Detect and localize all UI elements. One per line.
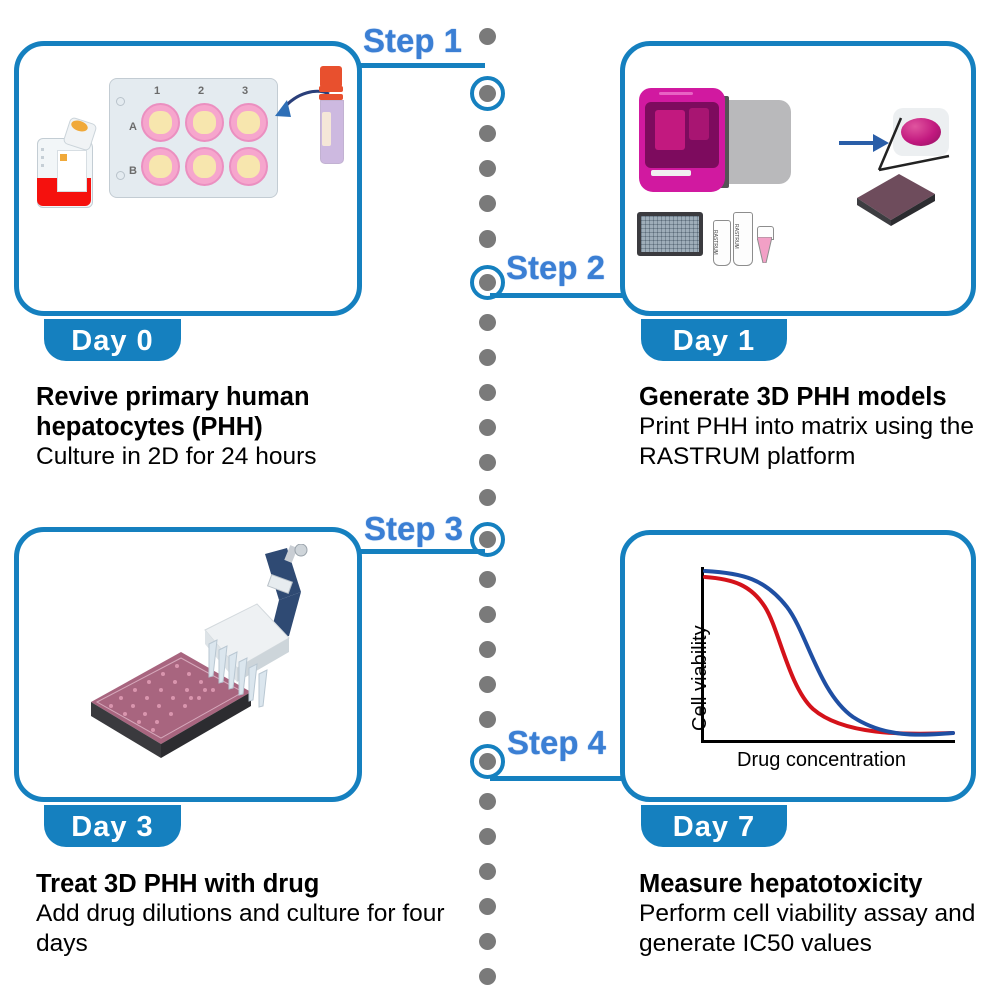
step-label-2: Step 2 bbox=[506, 249, 605, 287]
timeline-node-core bbox=[479, 531, 496, 548]
timeline-dot bbox=[479, 28, 496, 45]
step-label-4: Step 4 bbox=[507, 724, 606, 762]
day-badge-step-1: Day 0 bbox=[44, 319, 181, 361]
caption-body-step-2: Print PHH into matrix using the RASTRUM … bbox=[639, 412, 989, 472]
timeline-dot bbox=[479, 711, 496, 728]
timeline-node-core bbox=[479, 274, 496, 291]
plate-column-label: 2 bbox=[198, 85, 204, 97]
connector-step-2 bbox=[490, 293, 635, 298]
multichannel-pipette-icon bbox=[169, 544, 339, 724]
rastrum-consumables-icon: RASTRUM RASTRUM bbox=[713, 206, 783, 262]
consumable-label: RASTRUM bbox=[733, 224, 739, 249]
caption-body-step-3: Add drug dilutions and culture for four … bbox=[36, 899, 456, 959]
microplate-icon bbox=[637, 212, 703, 256]
consumable-label: RASTRUM bbox=[712, 230, 718, 255]
timeline-dot bbox=[479, 898, 496, 915]
panel-step-2-illustration: RASTRUM RASTRUM bbox=[625, 46, 971, 311]
workflow-diagram: Step 1 Step 2 Step 3 Step 4 1 bbox=[0, 0, 996, 996]
connector-step-3 bbox=[357, 549, 485, 554]
timeline-dot bbox=[479, 419, 496, 436]
chart-curves bbox=[703, 567, 955, 743]
timeline-track bbox=[479, 28, 497, 988]
timeline-dot bbox=[479, 160, 496, 177]
timeline-node-step-1[interactable] bbox=[470, 76, 505, 111]
timeline-dot bbox=[479, 195, 496, 212]
caption-title-step-4: Measure hepatotoxicity bbox=[639, 869, 996, 899]
panel-step-2: RASTRUM RASTRUM bbox=[620, 41, 976, 316]
timeline-node-step-4[interactable] bbox=[470, 744, 505, 779]
timeline-dot bbox=[479, 968, 496, 985]
panel-step-1-illustration: 1 2 3 A B bbox=[19, 46, 357, 311]
panel-step-3-illustration bbox=[19, 532, 357, 797]
cryovial-icon bbox=[313, 62, 353, 177]
culture-flask-icon bbox=[27, 106, 107, 216]
plate-column-label: 3 bbox=[242, 85, 248, 97]
day-badge-step-4: Day 7 bbox=[641, 805, 787, 847]
rastrum-bioprinter-icon bbox=[637, 82, 827, 207]
timeline-dot bbox=[479, 231, 496, 248]
zoom-leader-lines bbox=[865, 112, 957, 182]
plate-row-label: B bbox=[129, 165, 137, 177]
timeline-dot bbox=[479, 793, 496, 810]
caption-title-step-3: Treat 3D PHH with drug bbox=[36, 869, 456, 899]
timeline-dot bbox=[479, 641, 496, 658]
step-label-1: Step 1 bbox=[363, 22, 462, 60]
caption-step-4: Measure hepatotoxicity Perform cell viab… bbox=[639, 869, 996, 959]
caption-step-2: Generate 3D PHH models Print PHH into ma… bbox=[639, 382, 989, 472]
day-badge-step-3: Day 3 bbox=[44, 805, 181, 847]
timeline-dot bbox=[479, 349, 496, 366]
day-badge-step-2: Day 1 bbox=[641, 319, 787, 361]
connector-step-4 bbox=[490, 776, 635, 781]
timeline-dot bbox=[479, 384, 496, 401]
caption-title-step-1: Revive primary human hepatocytes (PHH) bbox=[36, 382, 436, 442]
caption-step-1: Revive primary human hepatocytes (PHH) C… bbox=[36, 382, 436, 472]
timeline-node-core bbox=[479, 85, 496, 102]
panel-step-3 bbox=[14, 527, 362, 802]
timeline-node-core bbox=[479, 753, 496, 770]
timeline-dot bbox=[479, 606, 496, 623]
panel-step-1: 1 2 3 A B bbox=[14, 41, 362, 316]
timeline-dot bbox=[479, 828, 496, 845]
timeline-dot bbox=[479, 489, 496, 506]
timeline-dot bbox=[479, 933, 496, 950]
dose-response-chart: Cell viability Drug concentration bbox=[625, 535, 971, 797]
timeline-dot bbox=[479, 314, 496, 331]
timeline-dot bbox=[479, 454, 496, 471]
step-label-3: Step 3 bbox=[364, 510, 463, 548]
eppendorf-tube-icon bbox=[757, 237, 772, 263]
plate-row-label: A bbox=[129, 121, 137, 133]
six-well-plate-icon: 1 2 3 A B bbox=[109, 78, 278, 198]
plate-column-label: 1 bbox=[154, 85, 160, 97]
caption-step-3: Treat 3D PHH with drug Add drug dilution… bbox=[36, 869, 456, 959]
timeline-dot bbox=[479, 125, 496, 142]
chart-x-axis-label: Drug concentration bbox=[737, 749, 906, 772]
timeline-dot bbox=[479, 863, 496, 880]
caption-body-step-4: Perform cell viability assay and generat… bbox=[639, 899, 996, 959]
panel-step-4-illustration: Cell viability Drug concentration bbox=[625, 535, 971, 797]
connector-step-1 bbox=[357, 63, 485, 68]
caption-title-step-2: Generate 3D PHH models bbox=[639, 382, 989, 412]
caption-body-step-1: Culture in 2D for 24 hours bbox=[36, 442, 436, 472]
timeline-dot bbox=[479, 571, 496, 588]
panel-step-4: Cell viability Drug concentration bbox=[620, 530, 976, 802]
timeline-dot bbox=[479, 676, 496, 693]
